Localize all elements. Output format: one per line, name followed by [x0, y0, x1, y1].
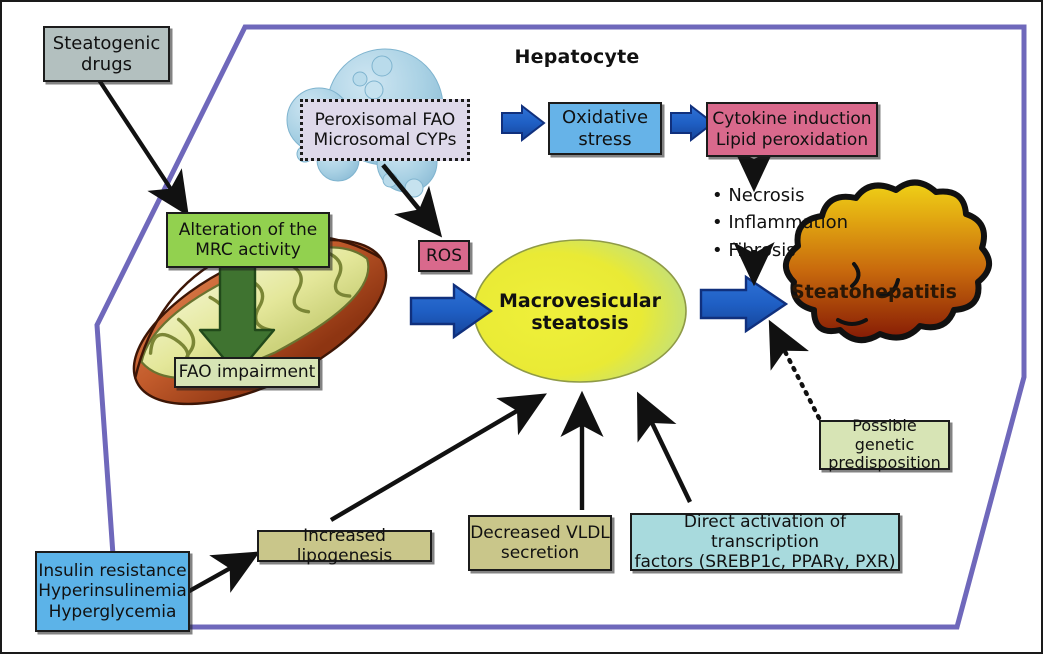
node-insulin-resistance[interactable]: Insulin resistance Hyperinsulinemia Hype…: [35, 551, 190, 632]
node-steatogenic-drugs[interactable]: Steatogenic drugs: [43, 26, 170, 82]
outcome-bullet-list: • Necrosis • Inflammation • Fibrosis: [712, 182, 848, 264]
node-cytokine-induction[interactable]: Cytokine induction Lipid peroxidation: [706, 102, 878, 157]
black-arrow-icon: [184, 556, 252, 594]
node-ros[interactable]: ROS: [418, 240, 470, 272]
node-oxidative-stress[interactable]: Oxidative stress: [548, 102, 662, 155]
node-macrovesicular-steatosis[interactable]: Macrovesicular steatosis: [500, 283, 660, 341]
dotted-arrow-icon: [773, 328, 819, 418]
node-peroxisomal-fao[interactable]: Peroxisomal FAO Microsomal CYPs: [300, 99, 470, 161]
right-arrow-icon: [411, 285, 491, 337]
node-genetic-predisposition[interactable]: Possible genetic predisposition: [819, 420, 950, 470]
node-steatohepatitis[interactable]: Steatohepatitis: [774, 281, 974, 303]
page-title: Hepatocyte: [472, 44, 682, 70]
node-increased-lipogenesis[interactable]: Increased lipogenesis: [257, 530, 432, 562]
bullet-fibrosis: • Fibrosis: [712, 237, 848, 264]
black-arrow-icon: [331, 398, 539, 520]
bullet-inflammation: • Inflammation: [712, 209, 848, 236]
right-arrow-icon: [502, 106, 544, 140]
black-arrow-icon: [641, 400, 690, 502]
node-transcription-factors[interactable]: Direct activation of transcription facto…: [630, 513, 900, 571]
bullet-necrosis: • Necrosis: [712, 182, 848, 209]
diagram-canvas: Hepatocyte Steatogenic drugs Peroxisomal…: [0, 0, 1043, 654]
black-arrow-icon: [99, 80, 184, 209]
black-arrow-icon: [383, 165, 436, 230]
node-alteration-mrc[interactable]: Alteration of the MRC activity: [166, 212, 330, 268]
node-decreased-vldl[interactable]: Decreased VLDL secretion: [468, 515, 612, 571]
node-fao-impairment[interactable]: FAO impairment: [174, 357, 320, 388]
